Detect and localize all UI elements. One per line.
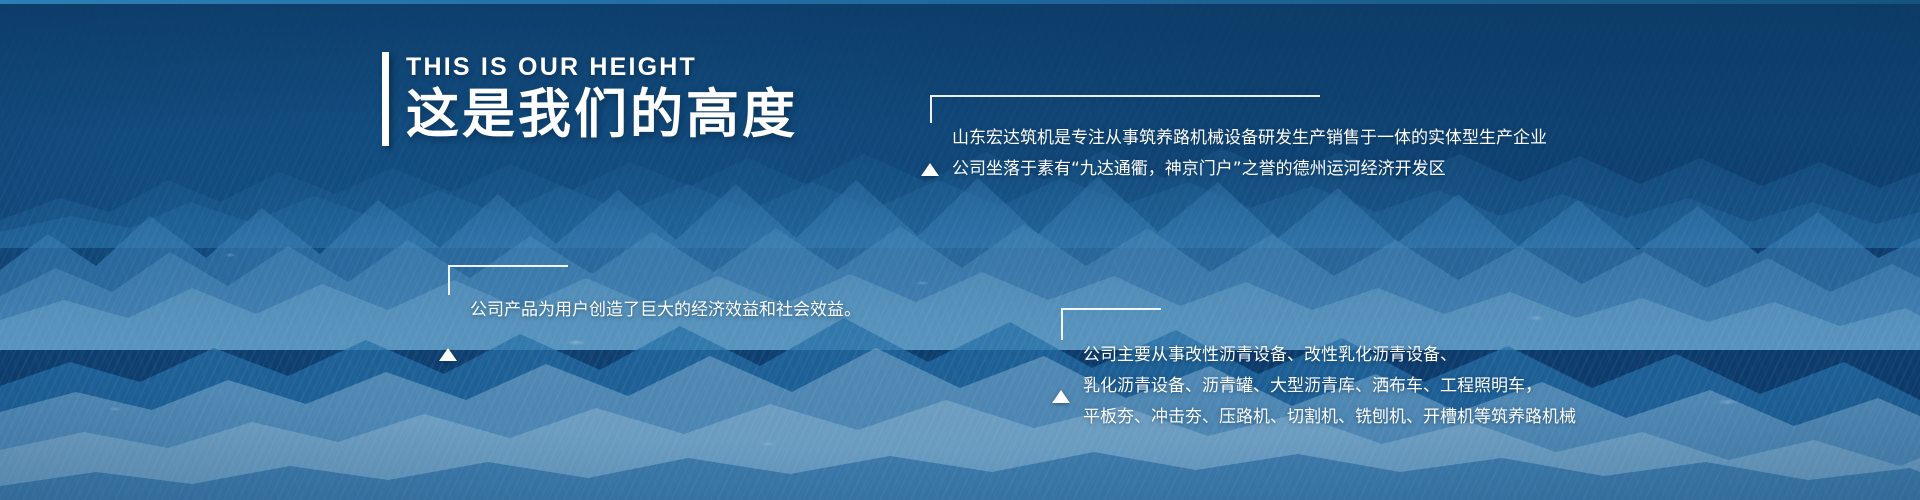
callout-benefit: 公司产品为用户创造了巨大的经济效益和社会效益。	[470, 295, 861, 326]
callout-line: 平板夯、冲击夯、压路机、切割机、铣刨机、开槽机等筑养路机械	[1083, 402, 1576, 433]
callout-line: 公司产品为用户创造了巨大的经济效益和社会效益。	[470, 295, 861, 326]
callout-line: 公司主要从事改性沥青设备、改性乳化沥青设备、	[1083, 340, 1576, 371]
banner-content: THIS IS OUR HEIGHT 这是我们的高度 山东宏达筑机是专注从事筑养…	[0, 0, 1920, 500]
callout-triangle-marker	[1052, 390, 1070, 403]
headline-english: THIS IS OUR HEIGHT	[406, 52, 798, 82]
callout-text-lines: 公司主要从事改性沥青设备、改性乳化沥青设备、 乳化沥青设备、沥青罐、大型沥青库、…	[1083, 340, 1576, 433]
callout-line: 乳化沥青设备、沥青罐、大型沥青库、洒布车、工程照明车，	[1083, 371, 1576, 402]
callout-triangle-marker	[439, 348, 457, 361]
callout-line: 公司坐落于素有“九达通衢，神京门户”之誉的德州运河经济开发区	[952, 154, 1547, 185]
callout-bracket	[930, 95, 1320, 123]
headline-texts: THIS IS OUR HEIGHT 这是我们的高度	[406, 52, 798, 146]
hero-banner: THIS IS OUR HEIGHT 这是我们的高度 山东宏达筑机是专注从事筑养…	[0, 0, 1920, 500]
callout-company-intro: 山东宏达筑机是专注从事筑养路机械设备研发生产销售于一体的实体型生产企业 公司坐落…	[952, 123, 1547, 185]
headline-accent-bar	[382, 52, 389, 146]
callout-bracket	[1061, 308, 1161, 340]
headline-block: THIS IS OUR HEIGHT 这是我们的高度	[382, 52, 798, 146]
callout-products: 公司主要从事改性沥青设备、改性乳化沥青设备、 乳化沥青设备、沥青罐、大型沥青库、…	[1083, 340, 1576, 433]
callout-triangle-marker	[921, 163, 939, 176]
callout-bracket	[448, 265, 568, 295]
headline-chinese: 这是我们的高度	[406, 84, 798, 146]
callout-line: 山东宏达筑机是专注从事筑养路机械设备研发生产销售于一体的实体型生产企业	[952, 123, 1547, 154]
callout-text-lines: 山东宏达筑机是专注从事筑养路机械设备研发生产销售于一体的实体型生产企业 公司坐落…	[952, 123, 1547, 185]
callout-text-lines: 公司产品为用户创造了巨大的经济效益和社会效益。	[470, 295, 861, 326]
